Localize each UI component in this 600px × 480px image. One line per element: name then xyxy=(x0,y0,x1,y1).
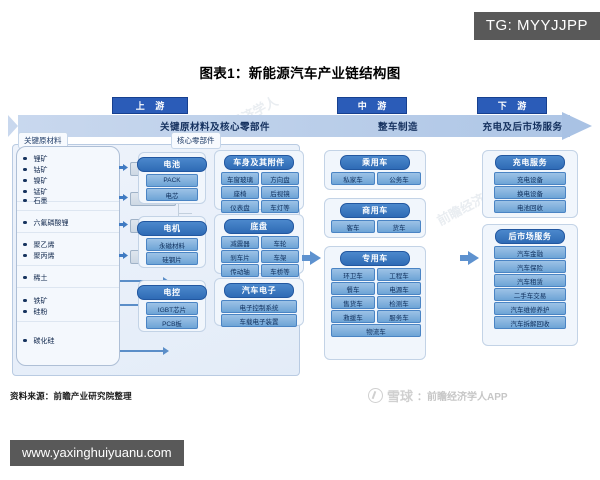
raw-material-item: 钴矿 xyxy=(17,164,119,175)
item-chip: 检测车 xyxy=(377,296,421,309)
group-passenger-vehicle: 乘用车私家车公务车 xyxy=(324,150,426,190)
item-chip: 环卫车 xyxy=(331,268,375,281)
raw-material-item: 石墨 xyxy=(17,195,119,206)
band-label-downstream: 充电及后市场服务 xyxy=(460,115,585,137)
raw-materials-box: 锂矿钴矿镍矿锰矿石墨六氟磷酸锂聚乙烯聚丙烯稀土铁矿硅粉碳化硅 xyxy=(16,146,120,366)
raw-material-group: 石墨 xyxy=(17,195,119,211)
group-header: 乘用车 xyxy=(340,155,410,170)
item-chip: 救援车 xyxy=(331,310,375,323)
arrow-vehicle-to-service-icon xyxy=(468,251,479,265)
stage-pill-midstream: 中 游 xyxy=(337,97,407,114)
raw-material-group: 稀土 xyxy=(17,272,119,288)
url-watermark-badge: www.yaxinghuiyuanu.com xyxy=(10,440,184,466)
tag-core-components: 核心零部件 xyxy=(171,132,221,149)
group-body-parts: 车身及其附件车窗玻璃方向盘座椅后视镜仪表盘车灯等 xyxy=(214,150,304,210)
item-chip: 工程车 xyxy=(377,268,421,281)
item-chip: 座椅 xyxy=(221,186,259,199)
item-chip: 车桥等 xyxy=(261,264,299,277)
item-chip: 售货车 xyxy=(331,296,375,309)
group-header: 专用车 xyxy=(340,251,410,266)
raw-material-item: 镍矿 xyxy=(17,175,119,186)
item-chip: 后视镜 xyxy=(261,186,299,199)
grey-box-tie-branch xyxy=(178,213,192,214)
arrow-to-cathode-icon xyxy=(119,163,128,172)
item-chip: 客车 xyxy=(331,220,375,233)
raw-material-item: 碳化硅 xyxy=(17,335,119,346)
group-charging-service: 充电服务充电设备换电设备电池回收 xyxy=(482,150,578,218)
arrow-to-anode-icon xyxy=(119,193,128,202)
item-chip: PACK xyxy=(146,174,198,187)
item-chip: 车架 xyxy=(261,250,299,263)
item-chip: 硅钢片 xyxy=(146,252,198,265)
group-header: 充电服务 xyxy=(495,155,565,170)
item-chip: 车轮 xyxy=(261,236,299,249)
raw-material-group: 聚乙烯聚丙烯 xyxy=(17,239,119,266)
connector-sic-to-controller xyxy=(120,350,164,352)
raw-material-item: 聚乙烯 xyxy=(17,239,119,250)
arrow-parts-to-vehicle-icon xyxy=(310,251,321,265)
item-chip: 车载电子装置 xyxy=(221,314,297,327)
item-chip: 汽车保险 xyxy=(494,260,566,273)
stage-pill-upstream: 上 游 xyxy=(112,97,188,114)
group-header: 汽车电子 xyxy=(224,283,294,298)
stage-pill-downstream: 下 游 xyxy=(477,97,547,114)
item-chip: 餐车 xyxy=(331,282,375,295)
arrow-to-electrolyte-icon xyxy=(119,220,128,229)
item-chip: 汽车租赁 xyxy=(494,274,566,287)
group-header: 商用车 xyxy=(340,203,410,218)
raw-material-item: 铁矿 xyxy=(17,295,119,306)
band-tail xyxy=(8,115,18,137)
group-header: 电机 xyxy=(137,221,207,236)
group-header: 底盘 xyxy=(224,219,294,234)
item-chip: 仪表盘 xyxy=(221,200,259,213)
arrow-parts-to-vehicle-stem xyxy=(302,255,310,261)
item-chip: 车灯等 xyxy=(261,200,299,213)
band-label-midstream: 整车制造 xyxy=(328,115,468,137)
item-chip: 充电设备 xyxy=(494,172,566,185)
item-chip: 二手车交易 xyxy=(494,288,566,301)
item-chip: 货车 xyxy=(377,220,421,233)
item-chip: 物流车 xyxy=(331,324,421,337)
item-chip: 私家车 xyxy=(331,172,375,185)
item-chip: 刹车片 xyxy=(221,250,259,263)
group-chassis: 底盘减震器车轮刹车片车架传动轴车桥等 xyxy=(214,214,304,274)
value-chain-arrow-band: 关键原材料及核心零部件 整车制造 充电及后市场服务 xyxy=(8,115,592,137)
item-chip: 汽车金融 xyxy=(494,246,566,259)
arrow-vehicle-to-service-stem xyxy=(460,255,468,261)
raw-material-item: 六氟磷酸锂 xyxy=(17,217,119,228)
item-chip: PCB板 xyxy=(146,316,198,329)
item-chip: 方向盘 xyxy=(261,172,299,185)
raw-material-group: 六氟磷酸锂 xyxy=(17,217,119,233)
item-chip: 电池回收 xyxy=(494,200,566,213)
raw-material-item: 稀土 xyxy=(17,272,119,283)
item-chip: 公务车 xyxy=(377,172,421,185)
item-chip: 服务车 xyxy=(377,310,421,323)
arrow-to-separator-icon xyxy=(119,251,128,260)
telegram-watermark-badge: TG: MYYJJPP xyxy=(474,12,600,40)
raw-material-item: 聚丙烯 xyxy=(17,250,119,261)
xueqiu-watermark: 雪球 ：前瞻经济学人APP xyxy=(368,386,508,405)
raw-material-group: 碳化硅 xyxy=(17,335,119,351)
item-chip: 永磁材料 xyxy=(146,238,198,251)
group-auto-electronics: 汽车电子电子控制系统车载电子装置 xyxy=(214,278,304,326)
group-battery: 电池PACK电芯 xyxy=(138,152,206,204)
group-header: 后市场服务 xyxy=(495,229,565,244)
xueqiu-tail-text: ：前瞻经济学人APP xyxy=(417,388,508,403)
item-chip: 换电设备 xyxy=(494,186,566,199)
group-header: 车身及其附件 xyxy=(224,155,294,170)
item-chip: 汽车维修养护 xyxy=(494,302,566,315)
group-motor: 电机永磁材料硅钢片 xyxy=(138,216,206,268)
page-title: 图表1：新能源汽车产业链结构图 xyxy=(0,62,600,82)
source-note: 资料来源：前瞻产业研究院整理 xyxy=(10,390,132,402)
group-header: 电控 xyxy=(137,285,207,300)
item-chip: 汽车拆解回收 xyxy=(494,316,566,329)
raw-material-item: 锂矿 xyxy=(17,153,119,164)
item-chip: IGBT芯片 xyxy=(146,302,198,315)
group-header: 电池 xyxy=(137,157,207,172)
group-controller: 电控IGBT芯片PCB板 xyxy=(138,280,206,332)
item-chip: 电芯 xyxy=(146,188,198,201)
xueqiu-brand-text: 雪球 xyxy=(387,386,413,405)
item-chip: 减震器 xyxy=(221,236,259,249)
industry-chain-figure: 前瞻经济学人 前瞻经济学人 前瞻经济学人 上 游 中 游 下 游 关键原材料及核… xyxy=(8,88,592,388)
screenshot-canvas: TG: MYYJJPP 图表1：新能源汽车产业链结构图 前瞻经济学人 前瞻经济学… xyxy=(0,0,600,480)
group-special-vehicle: 专用车环卫车工程车餐车电源车售货车检测车救援车服务车物流车 xyxy=(324,246,426,360)
group-aftermarket-service: 后市场服务汽车金融汽车保险汽车租赁二手车交易汽车维修养护汽车拆解回收 xyxy=(482,224,578,346)
item-chip: 电源车 xyxy=(377,282,421,295)
raw-material-item: 硅粉 xyxy=(17,306,119,317)
group-commercial-vehicle: 商用车客车货车 xyxy=(324,198,426,238)
xueqiu-logo-icon xyxy=(368,388,383,403)
item-chip: 电子控制系统 xyxy=(221,300,297,313)
raw-material-group: 铁矿硅粉 xyxy=(17,295,119,322)
item-chip: 传动轴 xyxy=(221,264,259,277)
item-chip: 车窗玻璃 xyxy=(221,172,259,185)
